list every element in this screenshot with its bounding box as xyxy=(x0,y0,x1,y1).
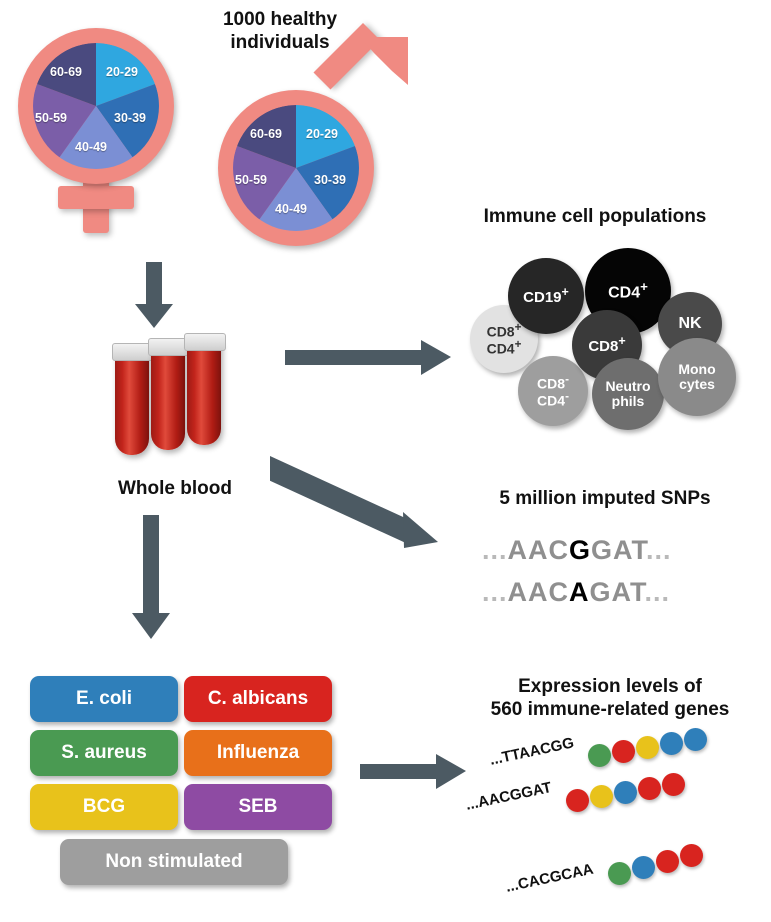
expression-title: Expression levels of 560 immune-related … xyxy=(455,675,765,721)
stimulus-non-stimulated[interactable]: Non stimulated xyxy=(60,839,288,885)
arrow-down-cohort-to-blood xyxy=(132,262,176,330)
expression-strand-3-bead xyxy=(656,850,679,873)
expression-strand-3-bead xyxy=(608,862,631,885)
immune-cell-populations-title: Immune cell populations xyxy=(440,205,750,228)
immune-cell-nk-label: NK xyxy=(678,316,701,333)
female-age-label-40-49: 40-49 xyxy=(75,140,107,154)
expression-strand-3-bead xyxy=(632,856,655,879)
stimulus-s-aureus[interactable]: S. aureus xyxy=(30,730,178,776)
stimulus-e-coli-label: E. coli xyxy=(76,688,132,710)
male-age-label-60-69: 60-69 xyxy=(250,127,282,141)
expression-strand-2-bead xyxy=(614,781,637,804)
snp-row1-variant: G xyxy=(569,535,591,565)
stimulus-s-aureus-label: S. aureus xyxy=(61,742,147,764)
male-age-label-20-29: 20-29 xyxy=(306,127,338,141)
whole-blood-label: Whole blood xyxy=(75,477,275,500)
stimulus-influenza[interactable]: Influenza xyxy=(184,730,332,776)
snp-sequence-row-1: ......AACAACGGAT... xyxy=(482,535,672,566)
expression-title-line1: Expression levels of xyxy=(455,675,765,698)
snps-title: 5 million imputed SNPs xyxy=(455,487,755,510)
arrow-blood-to-snps xyxy=(270,450,460,560)
snp-sequence-row-2: ......AACAACAGAT... xyxy=(482,577,670,608)
arrow-stimuli-to-expression xyxy=(360,750,470,794)
stimulus-c-albicans-label: C. albicans xyxy=(208,688,308,710)
expression-strand-3-sequence: ...CACGCAA xyxy=(504,861,595,896)
expression-strand-2-bead xyxy=(662,773,685,796)
arrow-blood-to-immune xyxy=(285,330,455,380)
female-age-label-60-69: 60-69 xyxy=(50,65,82,79)
stimulus-influenza-label: Influenza xyxy=(217,742,299,764)
immune-cell-monocytes: Monocytes xyxy=(658,338,736,416)
male-age-label-50-59: 50-59 xyxy=(235,173,267,187)
expression-strand-1-bead xyxy=(612,740,635,763)
blood-tubes xyxy=(105,335,245,465)
female-age-label-20-29: 20-29 xyxy=(106,65,138,79)
expression-strand-1-sequence: ...TTAACGG xyxy=(488,734,575,768)
stimulus-bcg-label: BCG xyxy=(83,796,125,818)
expression-strand-2-sequence: ...AACGGAT xyxy=(464,779,553,814)
expression-strand-1-bead xyxy=(660,732,683,755)
expression-strand-1-bead xyxy=(588,744,611,767)
expression-strand-2-bead xyxy=(566,789,589,812)
female-symbol-crossbar xyxy=(58,186,134,209)
expression-title-line2: 560 immune-related genes xyxy=(455,698,765,721)
blood-tube-cap xyxy=(184,333,226,351)
male-age-label-30-39: 30-39 xyxy=(314,173,346,187)
male-symbol-arrowhead xyxy=(344,35,410,101)
female-gender-symbol: 20-29 30-39 40-49 50-59 60-69 xyxy=(10,18,195,233)
stimulus-seb[interactable]: SEB xyxy=(184,784,332,830)
stimulus-seb-label: SEB xyxy=(238,796,277,818)
arrow-down-blood-to-stimuli xyxy=(130,515,174,641)
immune-cell-neutrophils: Neutrophils xyxy=(592,358,664,430)
stimulus-c-albicans[interactable]: C. albicans xyxy=(184,676,332,722)
expression-strand-2-bead xyxy=(638,777,661,800)
expression-strand-2-bead xyxy=(590,785,613,808)
male-gender-symbol: 20-29 30-39 40-49 50-59 60-69 xyxy=(200,35,410,250)
expression-strand-1-bead xyxy=(684,728,707,751)
immune-cell-cd19: CD19+ xyxy=(508,258,584,334)
stimulus-non-stimulated-label: Non stimulated xyxy=(105,851,242,873)
expression-strand-3-bead xyxy=(680,844,703,867)
female-age-label-50-59: 50-59 xyxy=(35,111,67,125)
male-age-label-40-49: 40-49 xyxy=(275,202,307,216)
blood-tube xyxy=(187,341,221,445)
snp-row2-variant: A xyxy=(569,577,590,607)
female-age-label-30-39: 30-39 xyxy=(114,111,146,125)
immune-cell-cd8cd4-double-negative: CD8-CD4- xyxy=(518,356,588,426)
stimulus-e-coli[interactable]: E. coli xyxy=(30,676,178,722)
expression-strand-1-bead xyxy=(636,736,659,759)
blood-tube xyxy=(115,351,149,455)
stimulus-bcg[interactable]: BCG xyxy=(30,784,178,830)
blood-tube xyxy=(151,346,185,450)
